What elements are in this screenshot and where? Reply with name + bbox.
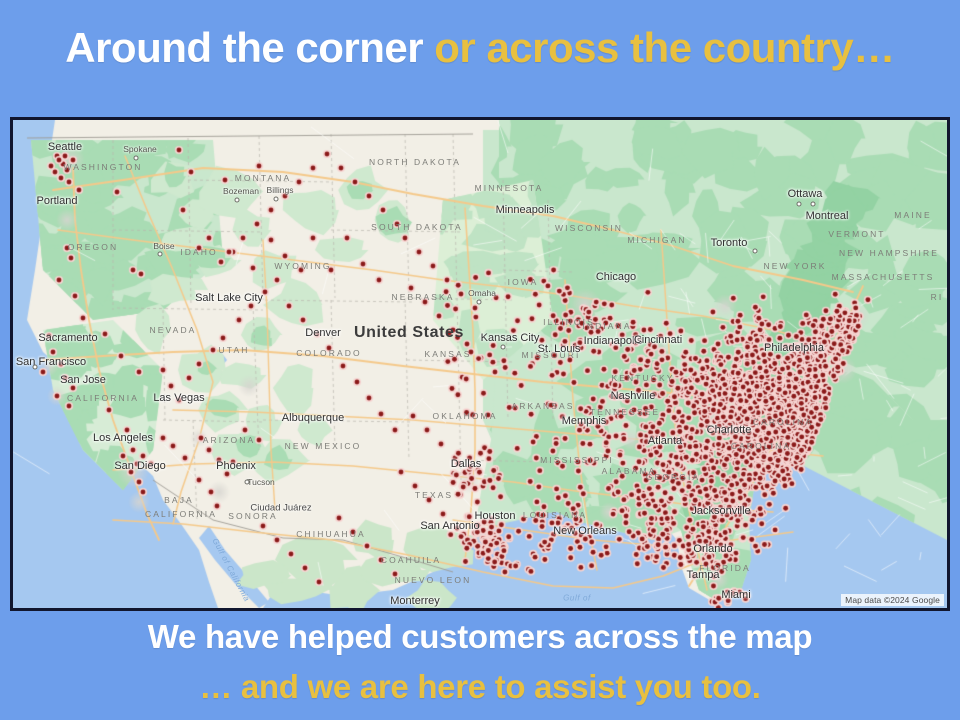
caption-line-2: … and we are here to assist you too. [0,668,960,706]
headline-gold-text: or across the country… [434,24,894,71]
map-container[interactable]: United StatesWASHINGTONOREGONIDAHOMONTAN… [10,117,950,611]
slide-headline: Around the corner or across the country… [0,24,960,71]
map-canvas[interactable] [13,120,947,608]
caption-line-1: We have helped customers across the map [0,618,960,656]
headline-white-text: Around the corner [65,24,434,71]
map-attribution: Map data ©2024 Google [841,594,944,606]
